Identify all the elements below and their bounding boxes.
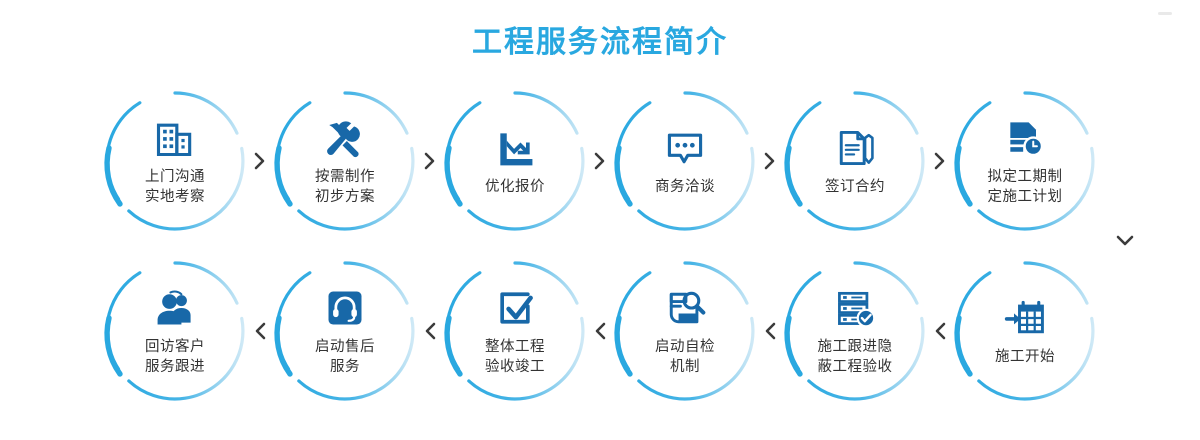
chevron-left-icon bbox=[250, 322, 270, 340]
checkbox-check-icon bbox=[492, 285, 538, 331]
node-label: 签订合约 bbox=[825, 177, 885, 197]
node-label: 施工跟进隐 蔽工程验收 bbox=[818, 337, 893, 377]
chevron-right-icon bbox=[250, 152, 270, 170]
chevron-left-icon bbox=[420, 322, 440, 340]
flow-node-schedule-plan[interactable]: 拟定工期制 定施工计划 bbox=[950, 86, 1100, 236]
node-content: 上门沟通 实地考察 bbox=[116, 115, 234, 207]
document-pen-icon bbox=[832, 125, 878, 171]
chart-down-trend-icon bbox=[492, 125, 538, 171]
node-content: 按需制作 初步方案 bbox=[286, 115, 404, 207]
node-label: 整体工程 验收竣工 bbox=[485, 337, 545, 377]
node-content: 优化报价 bbox=[456, 125, 574, 197]
tools-wrench-screwdriver-icon bbox=[322, 115, 368, 161]
chevron-left-icon bbox=[930, 322, 950, 340]
node-label: 回访客户 服务跟进 bbox=[145, 337, 205, 377]
flow-node-sign-contract[interactable]: 签订合约 bbox=[780, 86, 930, 236]
node-content: 整体工程 验收竣工 bbox=[456, 285, 574, 377]
node-label: 拟定工期制 定施工计划 bbox=[988, 167, 1063, 207]
node-content: 施工跟进隐 蔽工程验收 bbox=[796, 285, 914, 377]
page-title: 工程服务流程简介 bbox=[0, 0, 1200, 58]
flow-node-final-acceptance[interactable]: 整体工程 验收竣工 bbox=[440, 256, 590, 406]
chevron-right-icon bbox=[760, 152, 780, 170]
node-label: 启动自检 机制 bbox=[655, 337, 715, 377]
server-check-icon bbox=[832, 285, 878, 331]
flow-row-bottom: 回访客户 服务跟进 bbox=[0, 246, 1200, 416]
flow-row-top: 上门沟通 实地考察 bbox=[0, 76, 1200, 246]
flow-node-self-inspection[interactable]: 启动自检 机制 bbox=[610, 256, 760, 406]
headset-support-icon bbox=[322, 285, 368, 331]
node-content: 施工开始 bbox=[966, 295, 1084, 367]
users-group-icon bbox=[152, 285, 198, 331]
flow-node-site-visit[interactable]: 上门沟通 实地考察 bbox=[100, 86, 250, 236]
chevron-right-icon bbox=[930, 152, 950, 170]
flow-node-after-sales[interactable]: 启动售后 服务 bbox=[270, 256, 420, 406]
node-label: 施工开始 bbox=[995, 347, 1055, 367]
document-clock-icon bbox=[1002, 115, 1048, 161]
node-content: 回访客户 服务跟进 bbox=[116, 285, 234, 377]
chat-bubble-icon bbox=[662, 125, 708, 171]
calendar-arrow-icon bbox=[1002, 295, 1048, 341]
flow-node-customer-followup[interactable]: 回访客户 服务跟进 bbox=[100, 256, 250, 406]
chevron-left-icon bbox=[590, 322, 610, 340]
node-content: 启动自检 机制 bbox=[626, 285, 744, 377]
document-magnifier-icon bbox=[662, 285, 708, 331]
flow-node-draft-plan[interactable]: 按需制作 初步方案 bbox=[270, 86, 420, 236]
node-content: 商务洽谈 bbox=[626, 125, 744, 197]
flow-node-business-negotiation[interactable]: 商务洽谈 bbox=[610, 86, 760, 236]
node-label: 优化报价 bbox=[485, 177, 545, 197]
flow-node-concealed-works-check[interactable]: 施工跟进隐 蔽工程验收 bbox=[780, 256, 930, 406]
chevron-down-icon bbox=[1110, 226, 1140, 256]
chevron-right-icon bbox=[420, 152, 440, 170]
chevron-right-icon bbox=[590, 152, 610, 170]
node-label: 启动售后 服务 bbox=[315, 337, 375, 377]
node-content: 签订合约 bbox=[796, 125, 914, 197]
node-content: 启动售后 服务 bbox=[286, 285, 404, 377]
flow-node-optimize-quote[interactable]: 优化报价 bbox=[440, 86, 590, 236]
process-flow-diagram: 上门沟通 实地考察 bbox=[0, 76, 1200, 416]
decorative-mark bbox=[1158, 12, 1172, 15]
node-content: 拟定工期制 定施工计划 bbox=[966, 115, 1084, 207]
node-label: 按需制作 初步方案 bbox=[315, 167, 375, 207]
node-label: 上门沟通 实地考察 bbox=[145, 167, 205, 207]
node-label: 商务洽谈 bbox=[655, 177, 715, 197]
flow-node-construction-start[interactable]: 施工开始 bbox=[950, 256, 1100, 406]
chevron-left-icon bbox=[760, 322, 780, 340]
buildings-icon bbox=[152, 115, 198, 161]
